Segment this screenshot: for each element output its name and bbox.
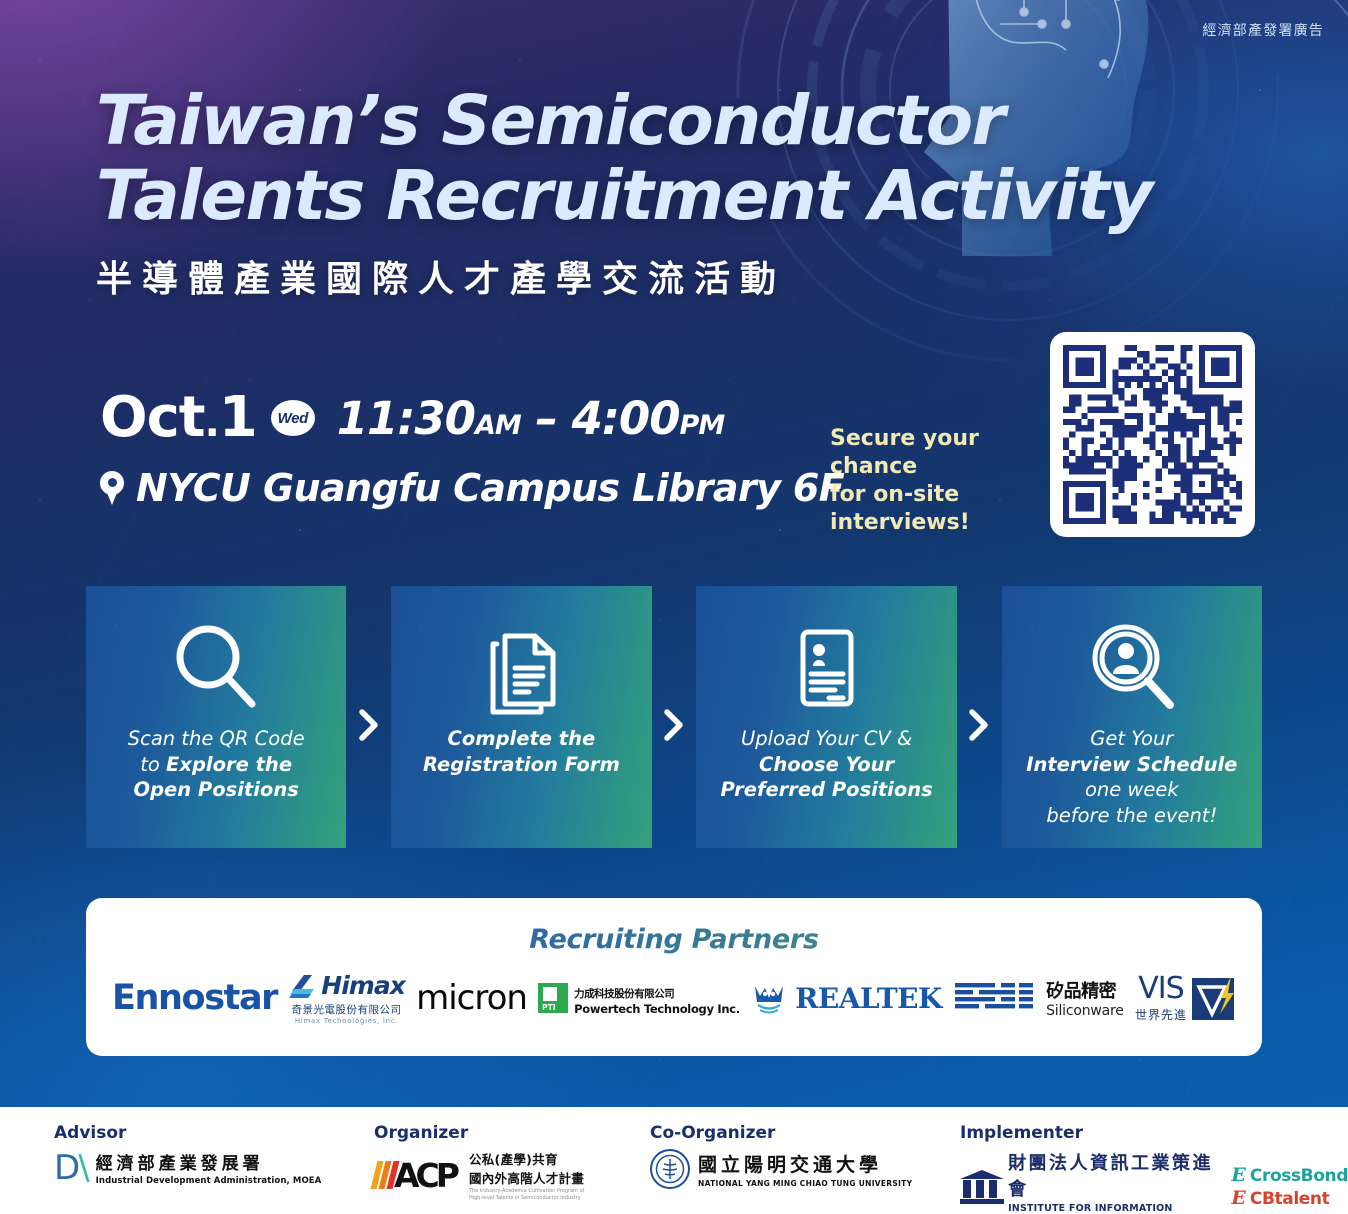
partner-logo-vis: VIS 世界先進	[1135, 967, 1236, 1029]
time-start-suffix: AM	[475, 410, 521, 441]
chevron-right-icon-1	[346, 586, 391, 848]
nycu-seal-icon	[650, 1149, 690, 1189]
spil-mark-icon	[953, 981, 1037, 1015]
partner-logo-micron: micron	[416, 967, 527, 1029]
organizer-zh-1: 公私(產學)共育	[469, 1149, 584, 1168]
acp-logo-icon: ACP	[374, 1159, 456, 1192]
title-line-2: Talents Recruitment Activity	[96, 163, 1256, 230]
event-venue-row: NYCU Guangfu Campus Library 6F	[100, 466, 844, 510]
partner-logo-realtek: REALTEK	[751, 967, 942, 1029]
weekday-badge: Wed	[271, 400, 315, 436]
event-datetime: Oct.1 Wed 11:30AM – 4:00PM	[100, 390, 724, 446]
page-title: Taiwan’s Semiconductor Talents Recruitme…	[96, 88, 1256, 230]
step-caption-1: Scan the QR Codeto Explore theOpen Posit…	[120, 726, 313, 803]
secure-chance-text: Secure your chance for on-site interview…	[830, 425, 1060, 538]
event-venue: NYCU Guangfu Campus Library 6F	[136, 466, 844, 510]
organizer-en-1: The Industry-Academia Cultivation Progra…	[469, 1188, 584, 1194]
footer-col-implementer: Implementer 財團法人資訊工業策進會 INSTITUTE FOR IN…	[960, 1123, 1348, 1214]
advisor-org-zh: 經濟部產業發展署	[96, 1149, 322, 1174]
footer-label-organizer: Organizer	[374, 1123, 584, 1143]
partner-logo-ennostar: Ennostar	[112, 967, 277, 1029]
secure-line-2: for on-site interviews!	[830, 481, 1060, 537]
himax-mark-icon	[288, 973, 316, 999]
title-chinese: 半導體產業國際人才產學交流活動	[96, 250, 1256, 302]
crossbond-label: CrossBond	[1250, 1166, 1348, 1186]
poster-root: 經濟部產發署廣告 Taiwan’s Semiconductor Talents …	[0, 0, 1348, 1214]
chevron-right-icon-2	[652, 586, 697, 848]
implementer-org-en: INSTITUTE FOR INFORMATION INDUSTRY	[1008, 1203, 1213, 1214]
steps-row: Scan the QR Codeto Explore theOpen Posit…	[86, 586, 1262, 848]
step-caption-2: Complete theRegistration Form	[415, 726, 628, 777]
date-dot: .	[205, 400, 219, 446]
step-card-2[interactable]: Complete theRegistration Form	[391, 586, 651, 848]
partner-logo-row: Ennostar Himax 奇景光電股份有限公司 Himax Technolo…	[86, 955, 1262, 1033]
implementer-org-zh: 財團法人資訊工業策進會	[1008, 1149, 1213, 1201]
ida-logo-icon: D\	[54, 1151, 88, 1185]
organizer-en-2: High-level Talents in Semiconductor Indu…	[469, 1195, 581, 1201]
footer-col-organizer: Organizer ACP 公私(產學)共育 國內外高階人才計畫 The Ind…	[374, 1123, 584, 1202]
footer-col-advisor: Advisor D\ 經濟部產業發展署 Industrial Developme…	[54, 1123, 321, 1186]
cv-document-icon	[779, 616, 875, 720]
footer-label-coorganizer: Co-Organizer	[650, 1123, 912, 1143]
step-card-4[interactable]: Get YourInterview Scheduleone weekbefore…	[1002, 586, 1262, 848]
footer-label-implementer: Implementer	[960, 1123, 1348, 1143]
time-dash: –	[535, 392, 557, 445]
event-day: 1	[219, 385, 257, 450]
magnifier-icon	[168, 616, 264, 720]
organizer-zh-2: 國內外高階人才計畫	[469, 1168, 584, 1187]
coorganizer-org-zh: 國立陽明交通大學	[698, 1150, 912, 1177]
crossbond-logos: ECrossBond ECBtalent	[1231, 1166, 1348, 1209]
iii-logo-icon	[960, 1170, 1000, 1204]
footer-bar: Advisor D\ 經濟部產業發展署 Industrial Developme…	[0, 1107, 1348, 1214]
realtek-mark-icon	[751, 982, 787, 1014]
partner-logo-powertech: 力成科技股份有限公司 Powertech Technology Inc.	[538, 967, 740, 1029]
time-end-suffix: PM	[680, 410, 725, 441]
time-start: 11:30	[337, 392, 475, 445]
qr-code-card[interactable]	[1050, 332, 1255, 537]
vis-mark-icon	[1190, 974, 1236, 1022]
time-end: 4:00	[572, 392, 680, 445]
location-pin-icon	[100, 471, 124, 505]
qr-code-icon[interactable]	[1063, 345, 1242, 524]
cbtalent-label: CBtalent	[1250, 1189, 1329, 1209]
coorganizer-org-en: NATIONAL YANG MING CHIAO TUNG UNIVERSITY	[698, 1179, 912, 1188]
step-caption-4: Get YourInterview Scheduleone weekbefore…	[1018, 726, 1245, 829]
recruiting-partners-panel: Recruiting Partners Ennostar Himax 奇景光電股	[86, 898, 1262, 1056]
footer-label-advisor: Advisor	[54, 1123, 321, 1143]
step-caption-3: Upload Your CV &Choose YourPreferred Pos…	[712, 726, 940, 803]
advisor-org-en: Industrial Development Administration, M…	[96, 1176, 322, 1186]
step-card-1[interactable]: Scan the QR Codeto Explore theOpen Posit…	[86, 586, 346, 848]
pti-mark-icon	[538, 983, 568, 1013]
title-block: Taiwan’s Semiconductor Talents Recruitme…	[96, 88, 1256, 302]
title-line-1: Taiwan’s Semiconductor	[96, 81, 1004, 161]
step-card-3[interactable]: Upload Your CV &Choose YourPreferred Pos…	[696, 586, 956, 848]
secure-line-1: Secure your chance	[830, 425, 1060, 481]
person-search-icon	[1084, 616, 1180, 720]
footer-col-coorganizer: Co-Organizer 國立陽明交通大學 NATIONAL YANG MING…	[650, 1123, 912, 1189]
documents-icon	[473, 616, 569, 720]
event-month: Oct	[100, 385, 205, 450]
event-date: Oct.1	[100, 390, 257, 446]
event-time: 11:30AM – 4:00PM	[337, 392, 724, 445]
partner-logo-spil: 矽品精密 Siliconware	[953, 967, 1124, 1029]
partners-title: Recruiting Partners	[86, 924, 1262, 955]
chevron-right-icon-3	[957, 586, 1002, 848]
government-ad-note: 經濟部產發署廣告	[1202, 20, 1324, 40]
partner-logo-himax: Himax 奇景光電股份有限公司 Himax Technologies, Inc…	[288, 967, 405, 1029]
